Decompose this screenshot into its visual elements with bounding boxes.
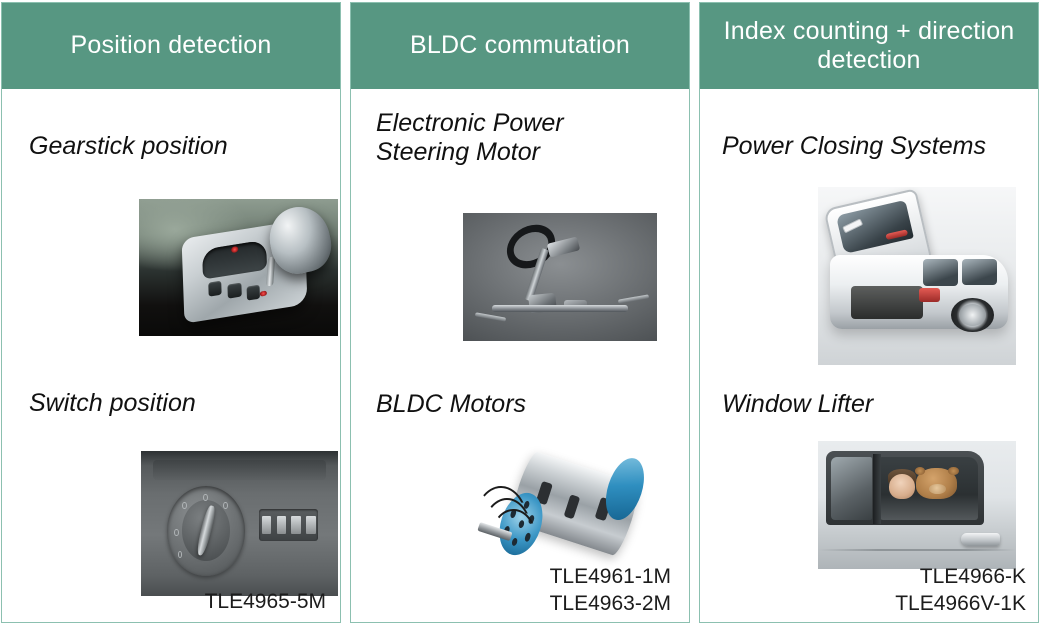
column-body-position-detection: Gearstick position Switch position	[2, 89, 340, 622]
section-title-gearstick-position: Gearstick position	[29, 132, 228, 161]
column-body-index-counting: Power Closing Systems Window Lifter	[700, 89, 1038, 622]
section-title-bldc-motors: BLDC Motors	[376, 390, 526, 419]
headlight-switch-photo	[141, 451, 338, 596]
part-numbers-index-counting: TLE4966-K TLE4966V-1K	[895, 564, 1026, 618]
column-header-bldc-commutation: BLDC commutation	[351, 3, 689, 89]
column-header-position-detection: Position detection	[2, 3, 340, 89]
electronic-power-steering-photo	[463, 213, 657, 341]
part-numbers-bldc-commutation: TLE4961-1M TLE4963-2M	[550, 564, 671, 618]
section-title-electronic-power-steering-motor: Electronic Power Steering Motor	[376, 109, 564, 167]
window-lifter-photo	[818, 441, 1016, 569]
column-position-detection: Position detection Gearstick position Sw…	[1, 2, 341, 623]
gearstick-photo	[139, 199, 338, 336]
power-tailgate-photo	[818, 187, 1016, 365]
application-panel-board: Position detection Gearstick position Sw…	[0, 0, 1041, 625]
column-body-bldc-commutation: Electronic Power Steering Motor BLDC Mot…	[351, 89, 689, 622]
bldc-motor-photo	[461, 434, 671, 579]
column-index-counting-direction-detection: Index counting + direction detection Pow…	[699, 2, 1039, 623]
section-title-switch-position: Switch position	[29, 389, 196, 418]
part-numbers-position-detection: TLE4965-5M	[205, 589, 326, 616]
section-title-power-closing-systems: Power Closing Systems	[722, 132, 986, 161]
section-title-window-lifter: Window Lifter	[722, 390, 873, 419]
column-header-index-counting-direction-detection: Index counting + direction detection	[700, 3, 1038, 89]
column-bldc-commutation: BLDC commutation Electronic Power Steeri…	[350, 2, 690, 623]
